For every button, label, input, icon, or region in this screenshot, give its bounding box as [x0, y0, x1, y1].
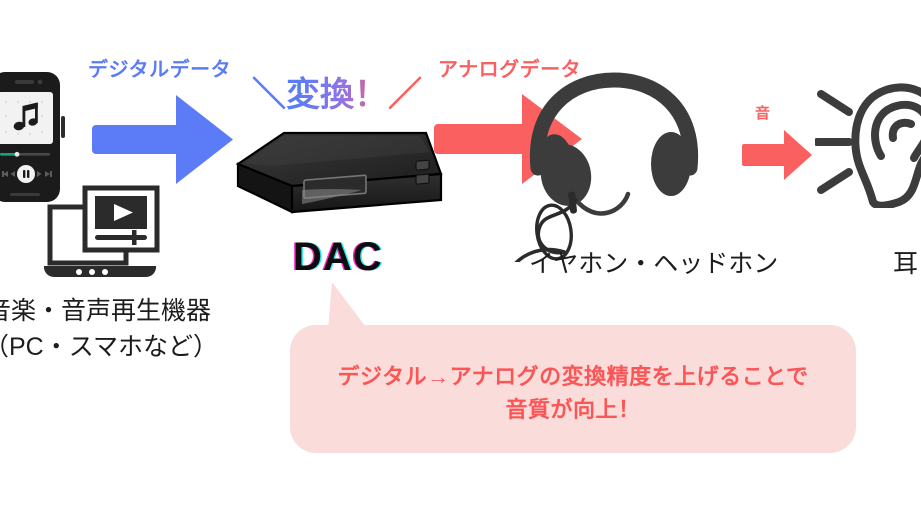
ear-listening-icon	[815, 78, 921, 213]
callout-tail	[328, 282, 368, 330]
label-sound: 音	[755, 105, 770, 124]
headphones-earphones-icon	[510, 72, 722, 267]
label-headphone: イヤホン・ヘッドホン	[529, 249, 778, 280]
callout-line-1: デジタル→アナログの変換精度を上げることで	[290, 360, 856, 393]
dac-device-icon	[232, 124, 448, 229]
callout-text: デジタル→アナログの変換精度を上げることで 音質が向上！	[290, 360, 856, 426]
label-conversion: ＼変換！／	[252, 74, 422, 117]
label-digital-data: デジタルデータ	[88, 58, 231, 83]
label-dac: DAC	[293, 232, 383, 282]
label-source-line1: 音楽・音声再生機器	[0, 296, 211, 327]
laptop-video-player-icon	[38, 182, 162, 287]
label-analog-data: アナログデータ	[438, 58, 581, 83]
right-arrow-small-red-icon	[742, 128, 814, 187]
diagram-canvas: デジタルデータ アナログデータ 音 ＼変換！／ DAC 音楽・音声再生機器 （P…	[0, 0, 921, 518]
label-source-line2: （PC・スマホなど）	[0, 332, 218, 363]
label-ear: 耳	[893, 249, 918, 280]
right-arrow-blue-icon	[92, 92, 237, 192]
callout-line-2: 音質が向上！	[290, 393, 856, 426]
